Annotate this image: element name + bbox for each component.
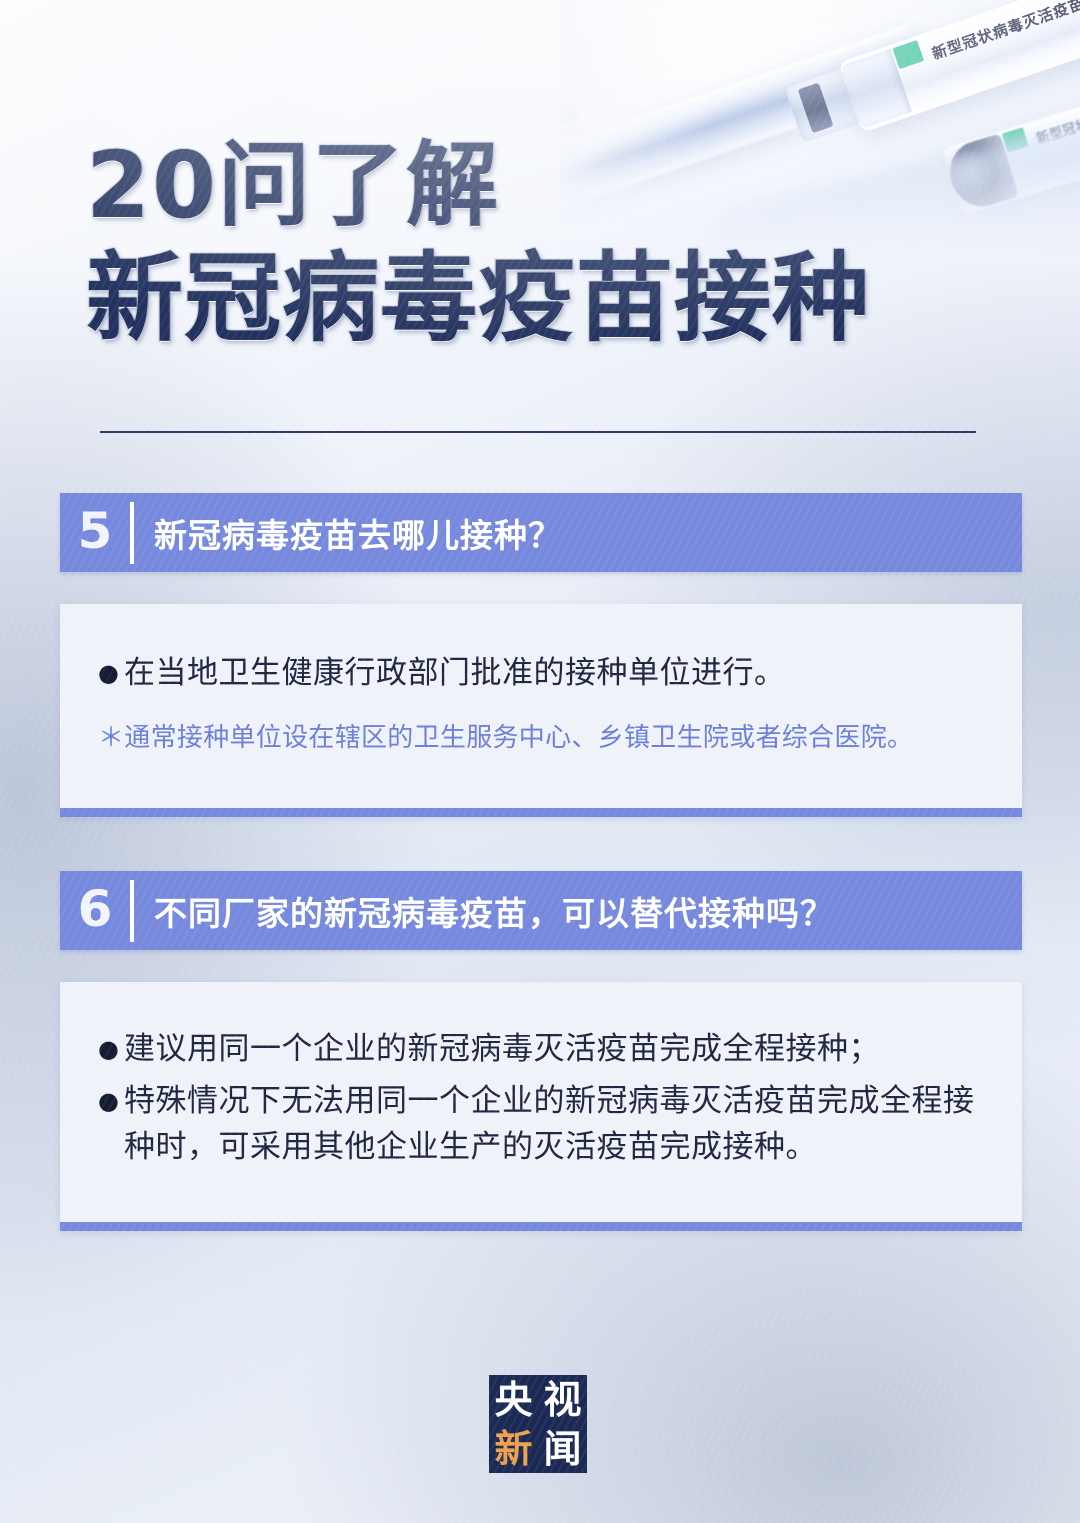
bullet-icon: ● [98,1026,124,1072]
logo-char-shi: 视 [543,1381,581,1419]
poster-title: 20问了解 新冠病毒疫苗接种 [86,140,986,347]
question-text-5: 新冠病毒疫苗去哪儿接种？ [154,509,562,557]
answer-panel-6: ● 建议用同一个企业的新冠病毒灭活疫苗完成全程接种； ● 特殊情况下无法用同一个… [60,982,1022,1231]
question-block-5: 5 新冠病毒疫苗去哪儿接种？ ● 在当地卫生健康行政部门批准的接种单位进行。 ＊… [60,493,1022,817]
cctv-news-logo: 央 视 新 闻 [489,1375,587,1473]
logo-char-yang: 央 [494,1381,532,1419]
question-header-5: 5 新冠病毒疫苗去哪儿接种？ [60,493,1022,572]
logo-char-xin: 新 [494,1430,532,1468]
answer-bullet-text: 建议用同一个企业的新冠病毒灭活疫苗完成全程接种； [124,1026,982,1072]
answer-bullet: ● 特殊情况下无法用同一个企业的新冠病毒灭活疫苗完成全程接种时，可采用其他企业生… [98,1078,982,1170]
question-text-6: 不同厂家的新冠病毒疫苗，可以替代接种吗？ [154,887,834,935]
answer-note-5: ＊通常接种单位设在辖区的卫生服务中心、乡镇卫生院或者综合医院。 [98,718,984,758]
answer-bullet: ● 建议用同一个企业的新冠病毒灭活疫苗完成全程接种； [98,1026,982,1072]
answer-bullet-text: 在当地卫生健康行政部门批准的接种单位进行。 [124,650,984,696]
question-number-6: 6 [60,884,130,937]
title-divider-rule [100,431,976,433]
question-header-6: 6 不同厂家的新冠病毒疫苗，可以替代接种吗？ [60,871,1022,950]
answer-bullet-text: 特殊情况下无法用同一个企业的新冠病毒灭活疫苗完成全程接种时，可采用其他企业生产的… [124,1078,982,1170]
answer-bullet: ● 在当地卫生健康行政部门批准的接种单位进行。 [98,650,984,696]
poster-root: 新型冠状病毒灭活疫苗 新型冠状病毒灭活疫苗 20问了解 新冠病毒疫苗接种 5 新… [0,0,1080,1523]
title-line-1: 20问了解 [86,140,986,232]
bullet-icon: ● [98,1078,124,1124]
question-header-divider [130,880,134,942]
question-header-divider [130,502,134,564]
question-block-6: 6 不同厂家的新冠病毒疫苗，可以替代接种吗？ ● 建议用同一个企业的新冠病毒灭活… [60,871,1022,1231]
bullet-icon: ● [98,650,124,696]
logo-char-wen: 闻 [543,1430,581,1468]
answer-panel-5: ● 在当地卫生健康行政部门批准的接种单位进行。 ＊通常接种单位设在辖区的卫生服务… [60,604,1022,817]
question-number-5: 5 [60,506,130,559]
title-line-2: 新冠病毒疫苗接种 [86,250,986,347]
